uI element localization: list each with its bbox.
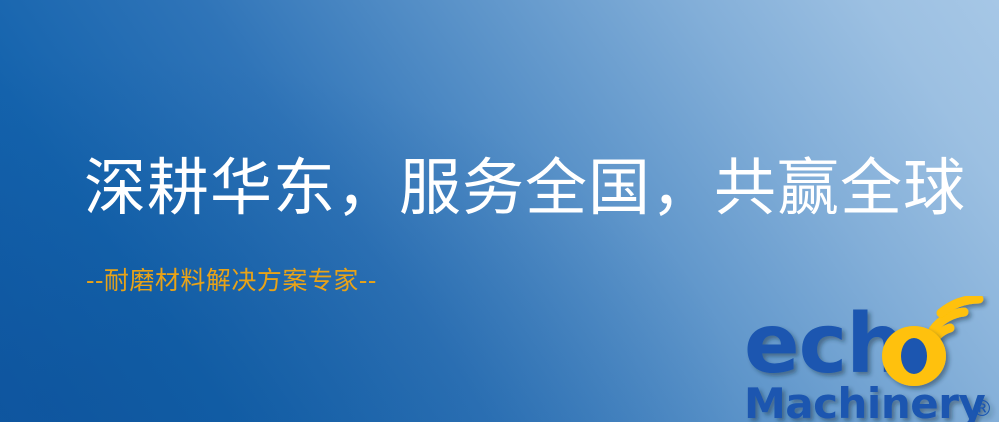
page-title: 深耕华东，服务全国，共赢全球 (84, 152, 966, 223)
svg-text:®: ® (971, 397, 993, 422)
page-subtitle: --耐磨材料解决方案专家-- (86, 266, 377, 296)
logo-wordmark-ech: ech (744, 297, 904, 392)
svg-text:ech: ech (744, 297, 904, 392)
logo-letter-o (882, 326, 946, 386)
hero-banner: 深耕华东，服务全国，共赢全球 --耐磨材料解决方案专家-- ech (0, 0, 999, 422)
svg-text:Machinery: Machinery (744, 379, 985, 422)
logo-tagline: Machinery ® (744, 379, 993, 422)
echo-machinery-logo[interactable]: ech Machinery ® (744, 296, 999, 422)
